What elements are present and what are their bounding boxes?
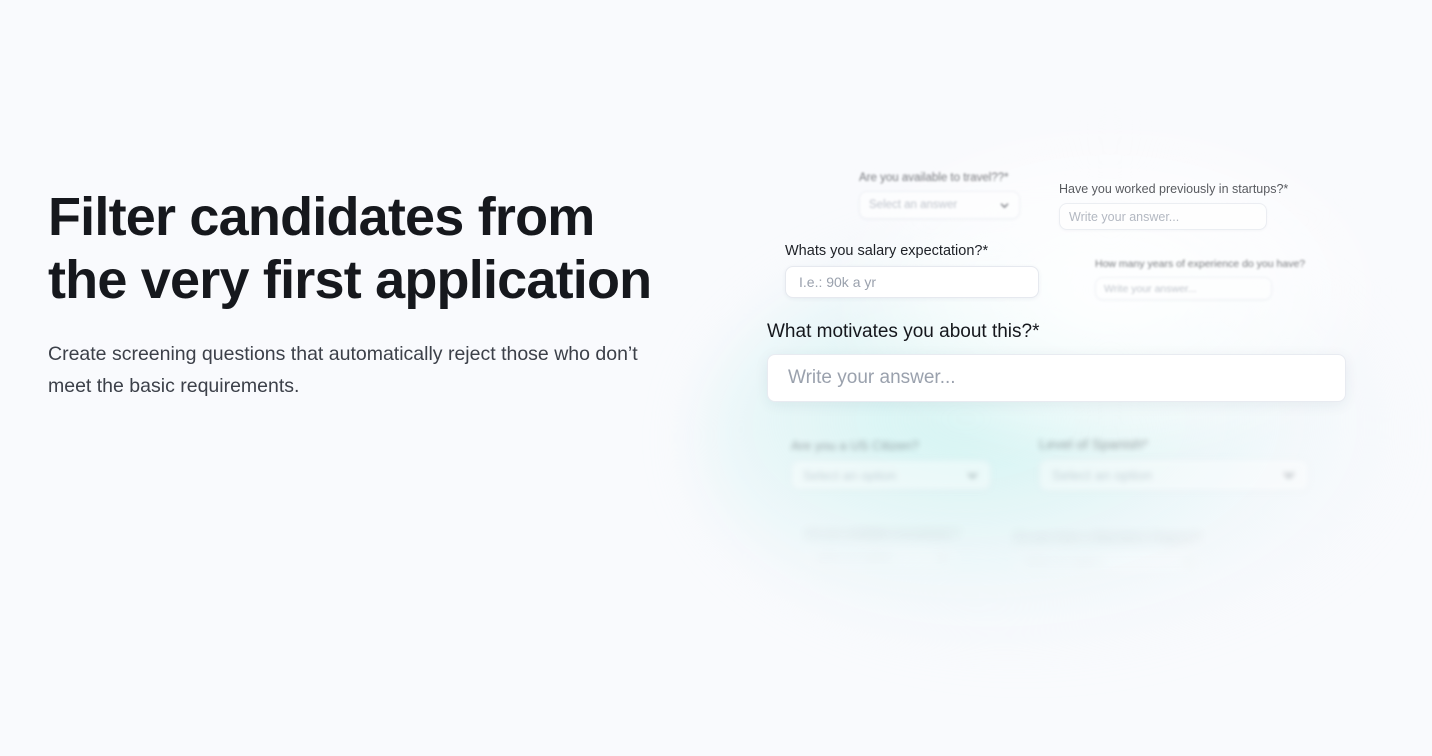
chevron-down-icon bbox=[1282, 468, 1296, 482]
page-title-line-1: Filter candidates from bbox=[48, 187, 595, 247]
field-startups: Have you worked previously in startups?*… bbox=[1059, 182, 1267, 230]
field-spanish-level: Level of Spanish* Select an option bbox=[1039, 436, 1309, 491]
field-startups-placeholder: Write your answer... bbox=[1069, 210, 1179, 224]
field-spanish-level-placeholder: Select an option bbox=[1052, 467, 1152, 483]
page-title-line-2: the very first application bbox=[48, 250, 651, 310]
field-us-citizen-label: Are you a US Citizen? bbox=[791, 438, 991, 453]
chevron-down-icon bbox=[938, 553, 948, 563]
page-title: Filter candidates from the very first ap… bbox=[48, 186, 708, 312]
field-us-citizen: Are you a US Citizen? Select an option bbox=[791, 438, 991, 490]
field-years-experience-label: How many years of experience do you have… bbox=[1095, 258, 1272, 270]
field-years-experience-input[interactable]: Write your answer... bbox=[1095, 277, 1272, 300]
hero-copy: Filter candidates from the very first ap… bbox=[48, 186, 708, 402]
field-startups-input[interactable]: Write your answer... bbox=[1059, 203, 1267, 230]
field-salary-placeholder: I.e.: 90k a yr bbox=[799, 274, 876, 290]
field-motivation: What motivates you about this?* Write yo… bbox=[767, 321, 1346, 402]
field-travel: Are you available to travel??* Select an… bbox=[859, 172, 1020, 219]
field-us-citizen-placeholder: Select an option bbox=[803, 468, 896, 483]
field-spanish-level-label: Level of Spanish* bbox=[1039, 436, 1309, 452]
field-spanish-level-select[interactable]: Select an option bbox=[1039, 459, 1309, 491]
field-available-immediately-placeholder: Select an option bbox=[814, 552, 893, 564]
field-bachelors-degree-label: Do you have a Bachelors Degree?* bbox=[1014, 530, 1204, 544]
field-bachelors-degree-select[interactable]: Select an option bbox=[1014, 551, 1204, 573]
field-motivation-label: What motivates you about this?* bbox=[767, 321, 1346, 343]
field-us-citizen-select[interactable]: Select an option bbox=[791, 460, 991, 490]
chevron-down-icon bbox=[966, 469, 979, 482]
chevron-down-icon bbox=[999, 200, 1010, 211]
field-startups-label: Have you worked previously in startups?* bbox=[1059, 182, 1267, 196]
field-years-experience-placeholder: Write your answer... bbox=[1104, 283, 1197, 295]
field-available-immediately: Are you available immediately?* Select a… bbox=[805, 528, 957, 569]
page-subtitle: Create screening questions that automati… bbox=[48, 338, 673, 402]
field-motivation-input[interactable]: Write your answer... bbox=[767, 354, 1346, 402]
field-travel-placeholder: Select an answer bbox=[869, 199, 957, 211]
field-years-experience: How many years of experience do you have… bbox=[1095, 258, 1272, 300]
field-travel-label: Are you available to travel??* bbox=[859, 172, 1020, 184]
field-salary-label: Whats you salary expectation?* bbox=[785, 243, 1039, 259]
field-available-immediately-label: Are you available immediately?* bbox=[805, 528, 957, 540]
field-bachelors-degree: Do you have a Bachelors Degree?* Select … bbox=[1014, 530, 1204, 573]
field-motivation-placeholder: Write your answer... bbox=[788, 367, 956, 389]
field-salary: Whats you salary expectation?* I.e.: 90k… bbox=[785, 243, 1039, 298]
field-salary-input[interactable]: I.e.: 90k a yr bbox=[785, 266, 1039, 298]
field-bachelors-degree-placeholder: Select an option bbox=[1023, 556, 1102, 568]
field-available-immediately-select[interactable]: Select an option bbox=[805, 547, 957, 569]
chevron-down-icon bbox=[1185, 557, 1195, 567]
field-travel-select[interactable]: Select an answer bbox=[859, 191, 1020, 219]
